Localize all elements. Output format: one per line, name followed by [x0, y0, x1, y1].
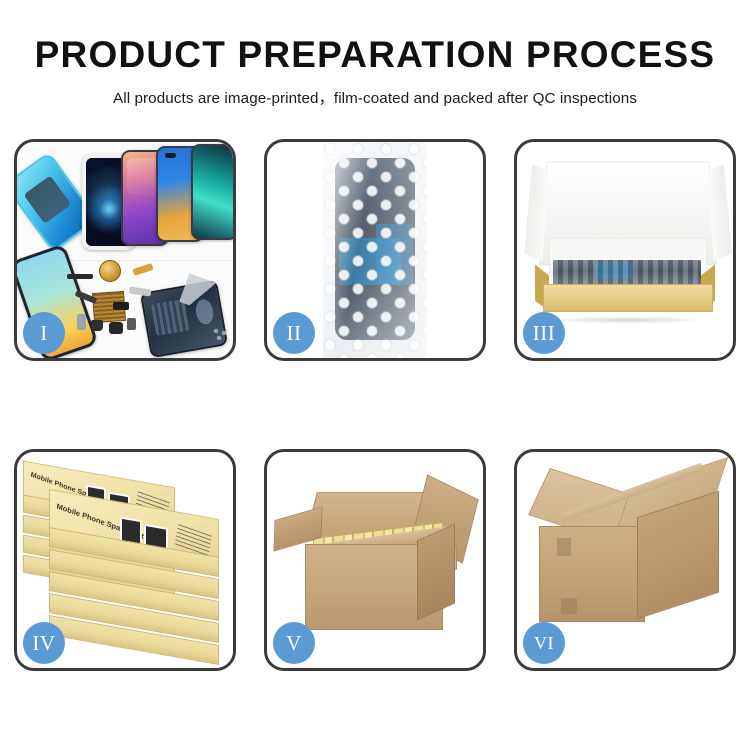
step-badge-1: I — [23, 312, 65, 354]
film-gloss — [323, 142, 427, 358]
bubble-wrap-sheet — [323, 142, 427, 358]
page-subtitle: All products are image-printed，film-coat… — [0, 76, 750, 108]
flex-cable-b — [132, 263, 153, 276]
taptic-part — [91, 320, 103, 331]
wrapped-part-in-box — [553, 260, 701, 286]
sealed-carton-front-panel — [539, 526, 645, 622]
carton-handle-tab-top — [557, 538, 571, 556]
process-step-panel-5[interactable]: V — [264, 449, 486, 671]
step-badge-3: III — [523, 312, 565, 354]
sim-tray-part — [77, 314, 86, 330]
phone-teal-gradient — [191, 144, 233, 240]
step-badge-4: IV — [23, 622, 65, 664]
carton-handle-tab-bottom — [561, 598, 577, 614]
step-badge-2: II — [273, 312, 315, 354]
mailer-box-front-panel — [543, 284, 713, 312]
flex-cable-c — [129, 287, 152, 297]
button-part — [127, 318, 136, 330]
process-step-panel-3[interactable]: III — [514, 139, 736, 361]
connector-part — [113, 302, 129, 310]
page-title: PRODUCT PREPARATION PROCESS — [0, 0, 750, 76]
camera-module-part — [109, 322, 123, 334]
front-camera-cutout — [165, 153, 176, 158]
flex-cable-a — [67, 274, 93, 279]
screws-icon — [213, 328, 229, 340]
process-step-panel-1[interactable]: I — [14, 139, 236, 361]
process-step-panel-4[interactable]: Mobile Phone Spare Parts Mobile Phone Sp… — [14, 449, 236, 671]
process-step-panel-6[interactable]: VI — [514, 449, 736, 671]
step-badge-5: V — [273, 622, 315, 664]
carton-side-panel — [417, 524, 455, 621]
process-step-panel-2[interactable]: II — [264, 139, 486, 361]
box-shadow — [547, 316, 707, 324]
step-badge-6: VI — [523, 622, 565, 664]
page-header: PRODUCT PREPARATION PROCESS All products… — [0, 0, 750, 108]
process-step-grid: I II III — [14, 139, 736, 684]
speaker-part — [99, 260, 121, 282]
